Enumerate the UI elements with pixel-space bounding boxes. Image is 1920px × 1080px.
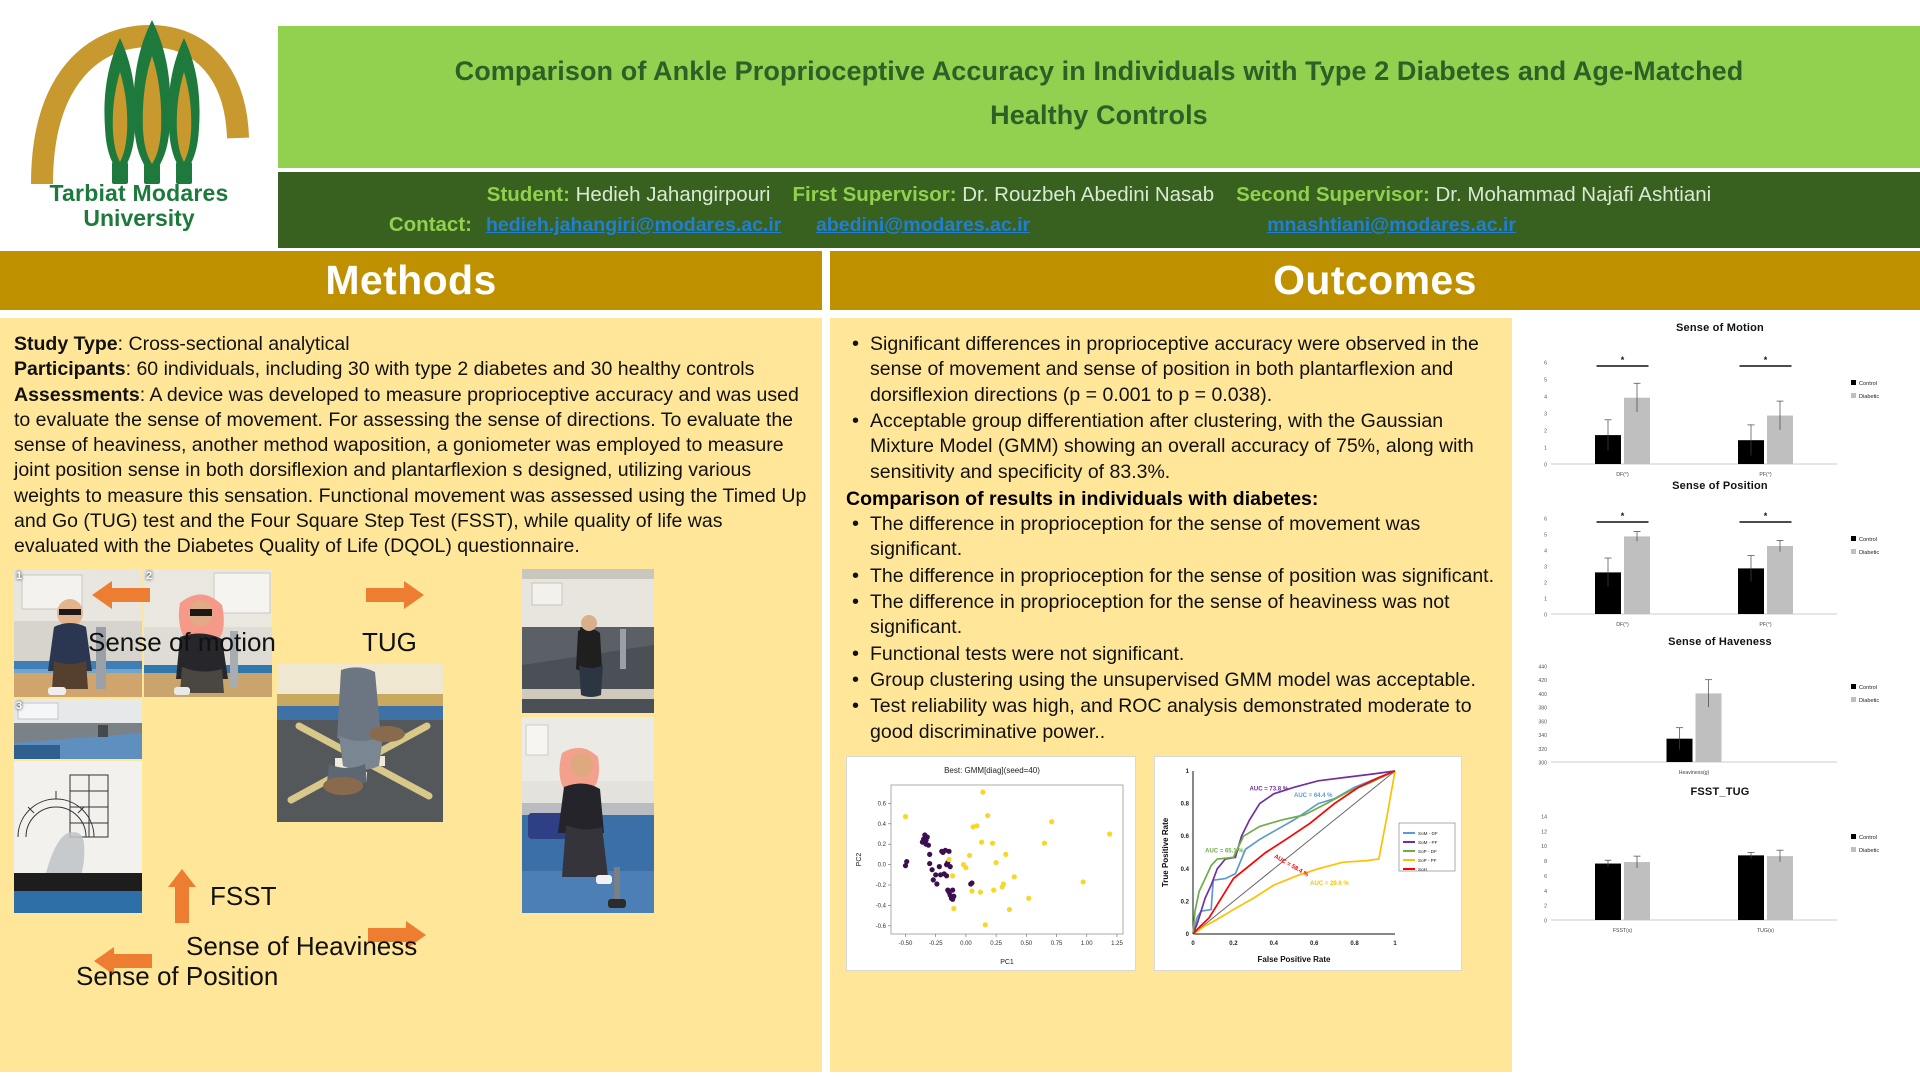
svg-text:-0.25: -0.25 <box>929 941 943 947</box>
label-tug: TUG <box>362 627 417 658</box>
section-banner-row: Methods Outcomes <box>0 248 1920 310</box>
scatter-point <box>983 922 988 927</box>
svg-text:0: 0 <box>1544 919 1547 925</box>
list-item: Acceptable group differentiation after c… <box>846 409 1496 485</box>
scatter-point <box>980 790 985 795</box>
scatter-point <box>1007 907 1012 912</box>
svg-text:0: 0 <box>1186 932 1190 938</box>
scatter-point <box>931 877 936 882</box>
svg-text:4: 4 <box>1544 889 1547 895</box>
svg-text:400: 400 <box>1538 692 1547 698</box>
svg-text:False Positive Rate: False Positive Rate <box>1258 955 1331 964</box>
svg-text:2: 2 <box>1544 429 1547 435</box>
methods-panel: Study Type: Cross-sectional analytical P… <box>0 318 822 1072</box>
svg-text:Diabetic: Diabetic <box>1859 394 1879 400</box>
second-supervisor-name: Dr. Mohammad Najafi Ashtiani <box>1435 183 1711 206</box>
scatter-point <box>990 841 995 846</box>
svg-text:0: 0 <box>1544 613 1547 619</box>
svg-text:0.50: 0.50 <box>1020 941 1032 947</box>
svg-text:0.8: 0.8 <box>1350 941 1359 947</box>
svg-text:0: 0 <box>1191 941 1195 947</box>
svg-text:8: 8 <box>1544 859 1547 865</box>
methods-assessments-label: Assessments <box>14 384 140 406</box>
svg-text:0.4: 0.4 <box>878 822 887 828</box>
university-logo: Tarbiat Modares University <box>0 0 278 248</box>
svg-text:0.00: 0.00 <box>960 941 972 947</box>
list-item: Test reliability was high, and ROC analy… <box>846 694 1496 745</box>
svg-text:-0.4: -0.4 <box>876 904 887 910</box>
svg-text:*: * <box>1764 511 1768 521</box>
scatter-point <box>978 890 983 895</box>
bar-diabetic <box>1767 546 1793 614</box>
svg-text:Diabetic: Diabetic <box>1859 848 1879 854</box>
svg-text:AUC = 64.4 %: AUC = 64.4 % <box>1294 793 1333 799</box>
email-link-second-supervisor[interactable]: mnashtiani@modares.ac.ir <box>1186 214 1516 237</box>
svg-text:Control: Control <box>1859 685 1877 691</box>
section-banner-outcomes: Outcomes <box>830 251 1920 310</box>
svg-text:6: 6 <box>1544 874 1547 880</box>
svg-text:PC2: PC2 <box>856 853 863 867</box>
email-link-student[interactable]: hedieh.jahangiri@modares.ac.ir <box>486 214 816 237</box>
scatter-point <box>1049 819 1054 824</box>
svg-text:0.6: 0.6 <box>1181 834 1190 840</box>
svg-text:320: 320 <box>1538 747 1547 753</box>
scatter-point <box>1107 832 1112 837</box>
svg-text:PC1: PC1 <box>1000 959 1014 966</box>
first-supervisor-label: First Supervisor: <box>793 183 957 206</box>
logo-mark-icon <box>24 12 254 192</box>
chart-title-sense-of-motion: Sense of Motion <box>1520 322 1920 334</box>
scatter-point <box>951 906 956 911</box>
bar-control <box>1738 855 1764 920</box>
logo-text-line2: University <box>24 205 254 232</box>
svg-text:2: 2 <box>1544 581 1547 587</box>
outcomes-panel: Significant differences in proprioceptiv… <box>830 318 1512 1072</box>
arrow-tug-icon <box>366 581 424 614</box>
svg-text:DF(°): DF(°) <box>1616 622 1629 628</box>
poster-header: Tarbiat Modares University Comparison of… <box>0 0 1920 248</box>
methods-participants-label: Participants <box>14 358 126 380</box>
list-item: Significant differences in proprioceptiv… <box>846 332 1496 408</box>
label-sense-of-motion: Sense of motion <box>88 627 276 658</box>
scatter-point <box>948 864 953 869</box>
svg-text:300: 300 <box>1538 761 1547 767</box>
contact-row: Contact: hedieh.jahangiri@modares.ac.ir … <box>278 213 1920 237</box>
scatter-point <box>985 813 990 818</box>
scatter-point <box>927 852 932 857</box>
contact-label: Contact: <box>318 213 486 237</box>
svg-text:1: 1 <box>1544 446 1547 452</box>
page-title-line-2: Healthy Controls <box>990 94 1208 138</box>
svg-text:2: 2 <box>1544 904 1547 910</box>
svg-text:360: 360 <box>1538 719 1547 725</box>
svg-text:3: 3 <box>1544 412 1547 418</box>
svg-text:4: 4 <box>1544 395 1547 401</box>
student-name: Hedieh Jahangirpouri <box>576 183 771 206</box>
svg-text:SoM - DF: SoM - DF <box>1418 831 1438 836</box>
charts-panel: Sense of Motion 0123456DF(°)*PF(°)*Contr… <box>1520 318 1920 1072</box>
svg-text:SoP - DF: SoP - DF <box>1418 849 1437 854</box>
svg-text:4: 4 <box>1544 549 1547 555</box>
svg-text:0.2: 0.2 <box>1181 900 1190 906</box>
photo-sense-of-motion-3: 3 <box>14 699 142 759</box>
svg-text:1.25: 1.25 <box>1111 941 1123 947</box>
svg-text:0.6: 0.6 <box>878 802 887 808</box>
svg-text:SoM - PF: SoM - PF <box>1418 840 1438 845</box>
scatter-point <box>946 849 951 854</box>
svg-text:0.75: 0.75 <box>1051 941 1063 947</box>
svg-text:5: 5 <box>1544 378 1547 384</box>
bar-diabetic <box>1624 536 1650 614</box>
scatter-point <box>904 859 909 864</box>
arrow-sense-of-motion-icon <box>92 581 150 614</box>
svg-text:340: 340 <box>1538 733 1547 739</box>
first-supervisor-entry: First Supervisor: Dr. Rouzbeh Abedini Na… <box>793 181 1215 209</box>
svg-text:5: 5 <box>1544 533 1547 539</box>
svg-text:DF(°): DF(°) <box>1616 472 1629 478</box>
photo-tug-walking <box>522 569 654 713</box>
svg-text:1: 1 <box>1186 769 1190 775</box>
bar-diabetic <box>1767 856 1793 920</box>
figure-gmm-scatter: Best: GMM[diag](seed=40)-0.50-0.250.000.… <box>846 756 1136 971</box>
methods-text-block: Study Type: Cross-sectional analytical P… <box>14 332 808 559</box>
scatter-point <box>933 872 938 877</box>
svg-text:-0.6: -0.6 <box>876 924 887 930</box>
photo-number-1: 1 <box>16 570 22 582</box>
svg-text:SoH: SoH <box>1418 867 1427 872</box>
scatter-point <box>974 823 979 828</box>
svg-text:0.25: 0.25 <box>990 941 1002 947</box>
svg-text:3: 3 <box>1544 565 1547 571</box>
list-item: Group clustering using the unsupervised … <box>846 668 1496 693</box>
svg-text:-0.50: -0.50 <box>899 941 913 947</box>
email-link-first-supervisor[interactable]: abedini@modares.ac.ir <box>816 214 1186 237</box>
logo-text-line1: Tarbiat Modares <box>24 180 254 207</box>
svg-text:Best: GMM[diag](seed=40): Best: GMM[diag](seed=40) <box>944 766 1040 775</box>
scatter-point <box>963 865 968 870</box>
scatter-point <box>967 853 972 858</box>
label-sense-of-heaviness: Sense of Heaviness <box>186 931 417 962</box>
scatter-point <box>969 889 974 894</box>
scatter-point <box>927 861 932 866</box>
scatter-point <box>925 835 930 840</box>
svg-text:Heaviness(g): Heaviness(g) <box>1679 770 1710 776</box>
second-supervisor-label: Second Supervisor: <box>1236 183 1430 206</box>
scatter-point <box>1012 874 1017 879</box>
arrow-fsst-icon <box>168 869 196 928</box>
svg-text:AUC = 65.1 %: AUC = 65.1 % <box>1205 849 1244 855</box>
chart-title-sense-of-haveness: Sense of Haveness <box>1520 636 1920 648</box>
svg-text:*: * <box>1621 511 1625 521</box>
scatter-point <box>929 867 934 872</box>
scatter-point <box>950 873 955 878</box>
svg-text:0.0: 0.0 <box>878 863 887 869</box>
scatter-point <box>946 857 951 862</box>
svg-text:0.2: 0.2 <box>878 842 887 848</box>
methods-study-type: Study Type: Cross-sectional analytical <box>14 332 808 357</box>
methods-participants: Participants: 60 individuals, including … <box>14 357 808 382</box>
scatter-point <box>1001 882 1006 887</box>
methods-photo-collage: 1 2 <box>14 569 808 1039</box>
label-fsst: FSST <box>210 881 276 912</box>
scatter-point <box>1042 841 1047 846</box>
svg-text:FSST(s): FSST(s) <box>1613 928 1633 934</box>
svg-text:Control: Control <box>1859 835 1877 841</box>
svg-text:14: 14 <box>1541 815 1547 821</box>
scatter-point <box>979 840 984 845</box>
svg-text:0: 0 <box>1544 463 1547 469</box>
svg-text:0.4: 0.4 <box>1181 867 1190 873</box>
chart-sense-of-position: Sense of Position 0123456DF(°)*PF(°)*Con… <box>1520 480 1920 639</box>
scatter-point <box>991 888 996 893</box>
svg-text:Control: Control <box>1859 381 1877 387</box>
svg-text:Control: Control <box>1859 537 1877 543</box>
scatter-point <box>969 881 974 886</box>
chart-sense-of-motion: Sense of Motion 0123456DF(°)*PF(°)*Contr… <box>1520 322 1920 489</box>
chart-fsst-tug: FSST_TUG 02468101214FSST(s)TUG(s)Control… <box>1520 786 1920 945</box>
outcomes-figure-row: Best: GMM[diag](seed=40)-0.50-0.250.000.… <box>846 756 1496 971</box>
svg-text:0.2: 0.2 <box>1229 941 1238 947</box>
svg-text:Diabetic: Diabetic <box>1859 698 1879 704</box>
photo-fsst-cross <box>277 664 443 822</box>
methods-assessments: Assessments: A device was developed to m… <box>14 383 808 560</box>
scatter-point <box>903 814 908 819</box>
methods-study-type-value: : Cross-sectional analytical <box>118 333 350 355</box>
student-entry: Student: Hedieh Jahangirpouri <box>487 181 771 209</box>
list-item: The difference in proprioception for the… <box>846 590 1496 641</box>
svg-text:True Positive Rate: True Positive Rate <box>1161 817 1170 887</box>
methods-assessments-value: : A device was developed to measure prop… <box>14 384 806 558</box>
svg-text:6: 6 <box>1544 361 1547 367</box>
chart-title-sense-of-position: Sense of Position <box>1520 480 1920 492</box>
svg-text:AUC = 73.8 %: AUC = 73.8 % <box>1250 787 1289 793</box>
svg-text:6: 6 <box>1544 517 1547 523</box>
svg-text:PF(°): PF(°) <box>1759 622 1771 628</box>
page-title-line-1: Comparison of Ankle Proprioceptive Accur… <box>455 50 1744 94</box>
methods-participants-value: : 60 individuals, including 30 with type… <box>126 358 755 380</box>
svg-text:Diabetic: Diabetic <box>1859 550 1879 556</box>
scatter-point <box>934 882 939 887</box>
svg-text:AUC = 58.4 %: AUC = 58.4 % <box>1273 854 1310 879</box>
svg-text:1: 1 <box>1393 941 1397 947</box>
outcomes-main-bullets: Significant differences in proprioceptiv… <box>846 332 1496 486</box>
section-banner-methods: Methods <box>0 251 822 310</box>
scatter-point <box>994 860 999 865</box>
svg-text:*: * <box>1621 355 1625 365</box>
photo-number-2: 2 <box>146 570 152 582</box>
outcomes-sub-bullets: The difference in proprioception for the… <box>846 512 1496 746</box>
svg-text:SoP - PF: SoP - PF <box>1418 858 1437 863</box>
svg-text:TUG(s): TUG(s) <box>1757 928 1774 934</box>
svg-text:1: 1 <box>1544 597 1547 603</box>
svg-text:0.8: 0.8 <box>1181 802 1190 808</box>
scatter-point <box>1003 852 1008 857</box>
scatter-point <box>1081 880 1086 885</box>
second-supervisor-entry: Second Supervisor: Dr. Mohammad Najafi A… <box>1236 181 1711 209</box>
chart-title-fsst-tug: FSST_TUG <box>1520 786 1920 798</box>
poster-title-bar: Comparison of Ankle Proprioceptive Accur… <box>278 26 1920 168</box>
svg-text:PF(°): PF(°) <box>1759 472 1771 478</box>
methods-study-type-label: Study Type <box>14 333 118 355</box>
scatter-point <box>1026 896 1031 901</box>
svg-text:380: 380 <box>1538 706 1547 712</box>
authors-row: Student: Hedieh Jahangirpouri First Supe… <box>278 181 1920 209</box>
photo-number-3: 3 <box>16 700 22 712</box>
authors-bar: Student: Hedieh Jahangirpouri First Supe… <box>278 172 1920 248</box>
bar-control <box>1595 864 1621 920</box>
svg-text:-0.2: -0.2 <box>876 883 887 889</box>
scatter-point <box>951 894 956 899</box>
bar-diabetic <box>1624 862 1650 920</box>
svg-text:12: 12 <box>1541 829 1547 835</box>
list-item: The difference in proprioception for the… <box>846 564 1496 589</box>
figure-roc-curve: 00.20.40.60.8100.20.40.60.81False Positi… <box>1154 756 1462 971</box>
scatter-point <box>950 888 955 893</box>
scatter-point <box>926 843 931 848</box>
svg-text:AUC = 29.6 %: AUC = 29.6 % <box>1310 881 1349 887</box>
svg-text:440: 440 <box>1538 665 1547 671</box>
outcomes-subheading: Comparison of results in individuals wit… <box>846 488 1496 511</box>
svg-text:*: * <box>1764 355 1768 365</box>
scatter-point <box>937 864 942 869</box>
student-label: Student: <box>487 183 570 206</box>
poster-body: Study Type: Cross-sectional analytical P… <box>0 310 1920 1072</box>
svg-text:10: 10 <box>1541 844 1547 850</box>
svg-text:0.6: 0.6 <box>1310 941 1319 947</box>
scatter-point <box>944 873 949 878</box>
svg-text:420: 420 <box>1538 678 1547 684</box>
chart-sense-of-haveness: Sense of Haveness 3003203403603804004204… <box>1520 636 1920 787</box>
photo-sense-of-position-goniometer <box>14 761 142 913</box>
label-sense-of-position: Sense of Position <box>76 961 278 992</box>
list-item: The difference in proprioception for the… <box>846 512 1496 563</box>
svg-text:1.00: 1.00 <box>1081 941 1093 947</box>
list-item: Functional tests were not significant. <box>846 642 1496 667</box>
photo-sense-of-heaviness <box>522 717 654 913</box>
first-supervisor-name: Dr. Rouzbeh Abedini Nasab <box>962 183 1214 206</box>
svg-text:0.4: 0.4 <box>1270 941 1279 947</box>
